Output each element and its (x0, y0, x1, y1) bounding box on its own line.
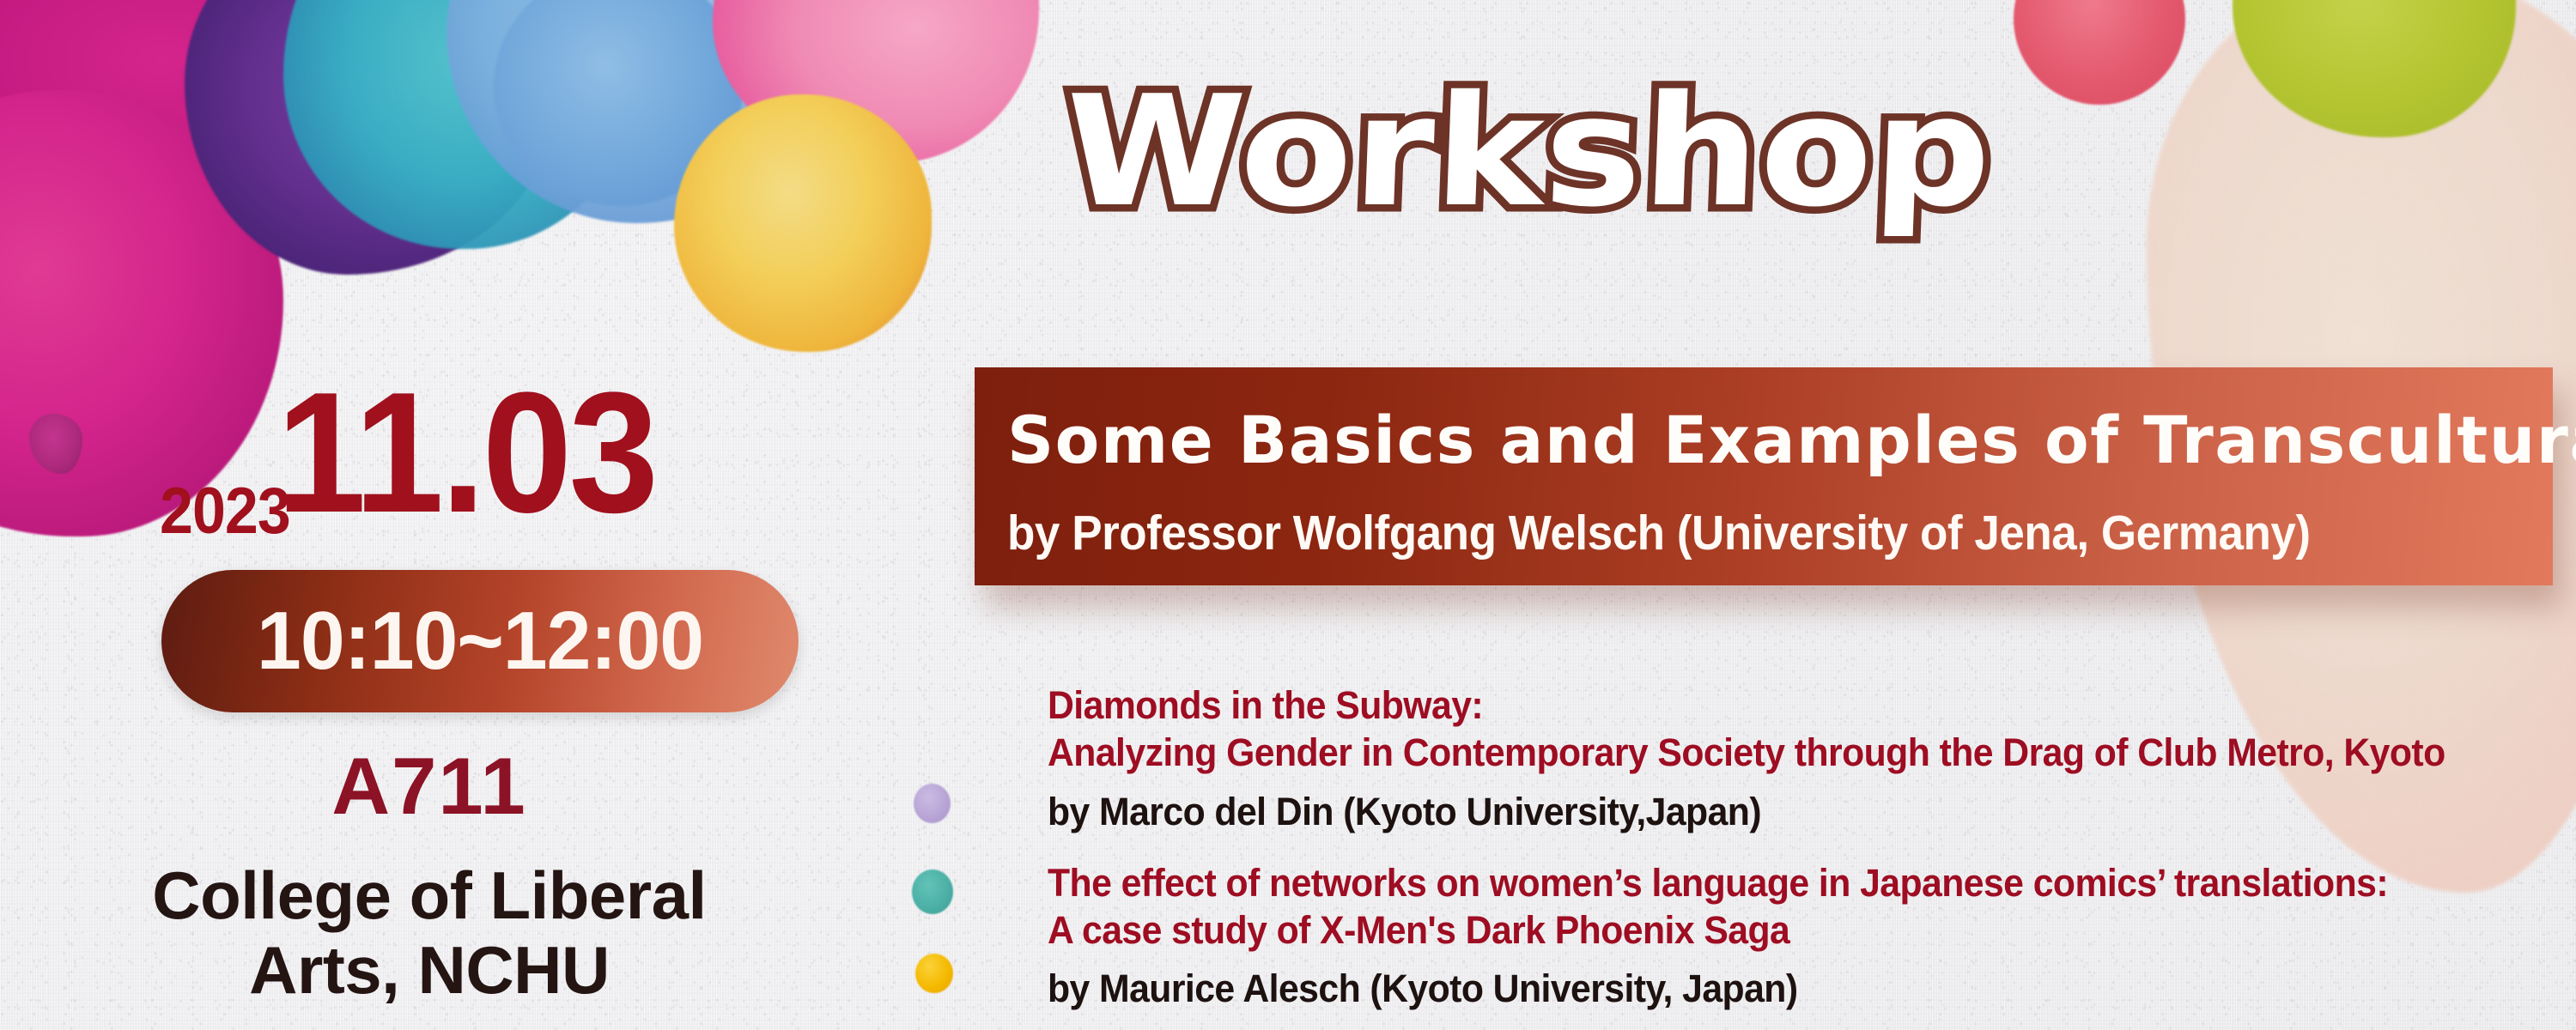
venue-room: A711 (0, 740, 859, 833)
talk-title-line-2: A case study of X-Men's Dark Phoenix Sag… (1048, 907, 2483, 954)
talk-item: The effect of networks on women’s langua… (1048, 860, 2559, 1014)
workshop-poster: Workshop 2023 11.03 10:10~12:00 A711 Col… (0, 0, 2576, 1030)
venue-name: College of Liberal Arts, NCHU (0, 858, 859, 1009)
talk-title: The effect of networks on women’s langua… (1048, 860, 2483, 954)
keynote-title: Some Basics and Examples of Transcultura… (1007, 402, 2576, 478)
event-time-label: 10:10~12:00 (257, 594, 703, 688)
venue-name-line-1: College of Liberal (0, 858, 859, 933)
talk-title-line-1: The effect of networks on women’s langua… (1048, 860, 2483, 907)
talk-speaker: by Marco del Din (Kyoto University,Japan… (1048, 789, 2483, 836)
poster-heading: Workshop (1062, 76, 1995, 228)
bullet-dot-yellow-icon (915, 954, 953, 993)
talk-item: Diamonds in the Subway: Analyzing Gender… (1048, 682, 2559, 836)
bullet-dot-lavender-icon (914, 784, 951, 823)
venue-name-line-2: Arts, NCHU (0, 933, 859, 1008)
talk-speaker: by Maurice Alesch (Kyoto University, Jap… (1048, 966, 2483, 1013)
keynote-banner: Some Basics and Examples of Transcultura… (975, 367, 2553, 585)
event-time-badge: 10:10~12:00 (161, 570, 799, 712)
keynote-speaker: by Professor Wolfgang Welsch (University… (1007, 505, 2311, 561)
event-year: 2023 (160, 474, 290, 548)
talk-title: Diamonds in the Subway: Analyzing Gender… (1048, 682, 2483, 777)
bullet-dot-teal-icon (912, 869, 953, 914)
talk-title-line-2: Analyzing Gender in Contemporary Society… (1048, 730, 2483, 777)
talk-title-line-1: Diamonds in the Subway: (1048, 682, 2483, 730)
talk-list: Diamonds in the Subway: Analyzing Gender… (1048, 682, 2559, 1013)
event-date: 11.03 (276, 367, 655, 539)
